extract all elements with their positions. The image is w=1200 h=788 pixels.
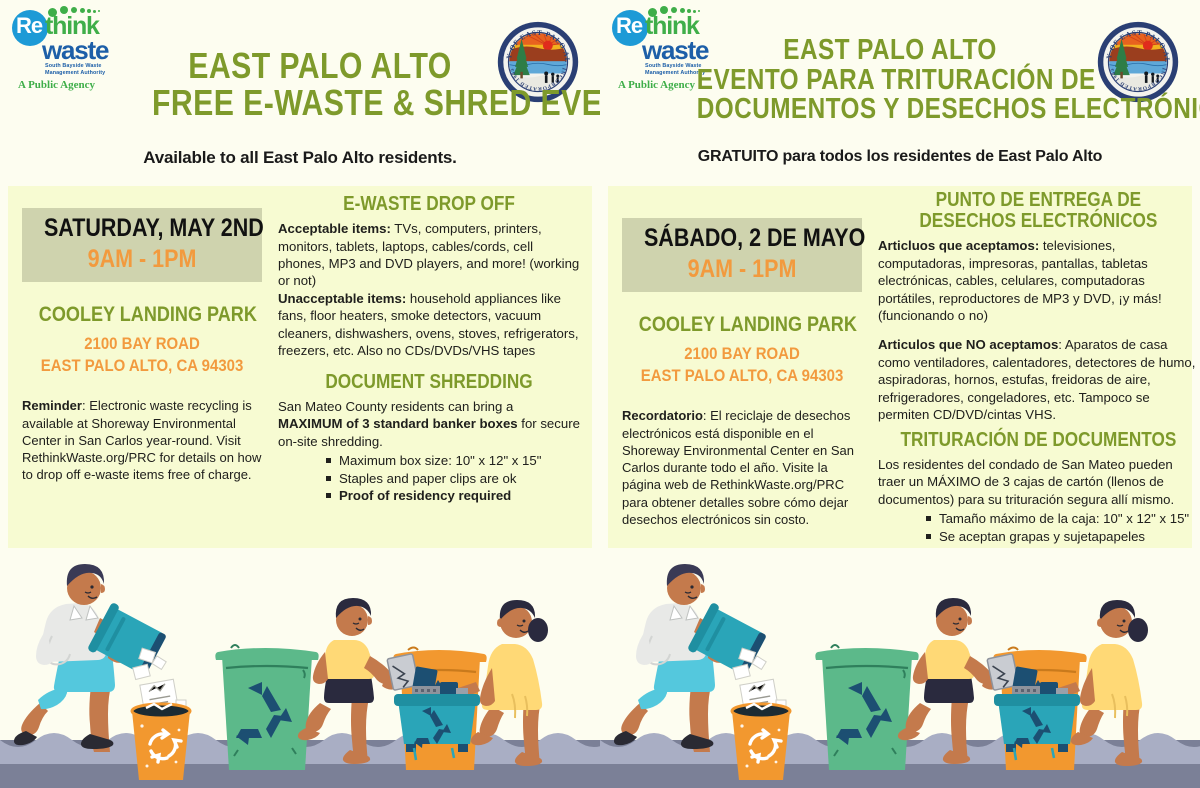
title-line1-es: EAST PALO ALTO [697, 36, 1083, 66]
venue-name-en: COOLEY LANDING PARK [39, 304, 245, 326]
recycling-scene-illustration [600, 548, 1200, 788]
flyer-root: Re think waste South Bayside Waste Manag… [0, 0, 1200, 788]
address-line2-es: EAST PALO ALTO, CA 94303 [636, 365, 847, 387]
shred-intro-es: Los residentes del condado de San Mateo … [878, 456, 1199, 508]
green-recycling-cart [215, 645, 318, 770]
title-line3-es: DOCUMENTOS Y DESECHOS ELECTRÓNICOS [697, 95, 1083, 125]
venue-address-es: 2100 BAY ROAD EAST PALO ALTO, CA 94303 [636, 343, 847, 387]
rethink-waste-logo: Re think waste South Bayside Waste Manag… [12, 6, 130, 96]
acceptable-label-en: Acceptable items: [278, 221, 391, 236]
ewaste-acceptable-es: Articluos que aceptamos: televisiones, c… [878, 237, 1199, 324]
shred-intro-en: San Mateo County residents can bring a M… [278, 398, 580, 450]
column-left-es: SÁBADO, 2 DE MAYO 9AM - 1PM COOLEY LANDI… [608, 186, 876, 598]
unacceptable-label-en: Unacceptable items: [278, 291, 406, 306]
content-en: SATURDAY, MAY 2ND 9AM - 1PM COOLEY LANDI… [8, 186, 592, 586]
shred-heading-es: TRITURACIÓN DE DOCUMENTOS [900, 430, 1176, 451]
shred-bullet-item: Proof of residency required [326, 487, 580, 505]
subtitle-en: Available to all East Palo Alto resident… [60, 148, 540, 168]
orange-paper-bin [132, 704, 190, 780]
event-time-en: 9AM - 1PM [44, 247, 240, 272]
shred-heading-en: DOCUMENT SHREDDING [299, 372, 559, 393]
recycling-scene-illustration [0, 548, 600, 788]
orange-paper-bin [732, 704, 790, 780]
shred-bullet-item: Staples and paper clips are ok [326, 470, 580, 488]
title-block-en: EAST PALO ALTO FREE E-WASTE & SHRED EVEN… [120, 48, 520, 121]
header-english: Re think waste South Bayside Waste Manag… [0, 0, 600, 183]
ewaste-heading-line2-es: DESECHOS ELECTRÓNICOS [900, 211, 1176, 232]
shred-intro-pre-en: San Mateo County residents can bring a [278, 399, 513, 414]
shred-bullet-item: Se aceptan grapas y sujetapapeles [926, 528, 1199, 546]
illustration-es [600, 548, 1200, 788]
logo-agency-text: A Public Agency [18, 79, 95, 91]
address-line1-en: 2100 BAY ROAD [36, 333, 247, 355]
title-line1-en: EAST PALO ALTO [152, 48, 488, 85]
reminder-label-es: Recordatorio [622, 408, 703, 423]
reminder-body-es: : El reciclaje de desechos electrónicos … [622, 408, 854, 527]
green-recycling-cart [815, 645, 918, 770]
ewaste-unacceptable-es: Articulos que NO aceptamos: Aparatos de … [878, 336, 1199, 423]
title-line2-es: EVENTO PARA TRITURACIÓN DE [697, 66, 1083, 96]
reminder-en: Reminder: Electronic waste recycling is … [22, 397, 262, 483]
venue-name-es: COOLEY LANDING PARK [639, 314, 845, 336]
date-box-en: SATURDAY, MAY 2ND 9AM - 1PM [22, 208, 262, 282]
title-block-es: EAST PALO ALTO EVENTO PARA TRITURACIÓN D… [660, 36, 1120, 125]
ewaste-unacceptable-en: Unacceptable items: household appliances… [278, 290, 580, 360]
event-time-es: 9AM - 1PM [644, 257, 840, 282]
shred-bullet-item: Tamaño máximo de la caja: 10" x 12" x 15… [926, 510, 1199, 528]
ewaste-acceptable-en: Acceptable items: TVs, computers, printe… [278, 220, 580, 290]
unacceptable-label-es: Articulos que NO aceptamos [878, 337, 1058, 352]
logo-re-text: Re [616, 15, 642, 37]
header-spanish: Re think waste South Bayside Waste Manag… [600, 0, 1200, 183]
title-line2-en: FREE E-WASTE & SHRED EVENT [152, 85, 488, 122]
date-box-es: SÁBADO, 2 DE MAYO 9AM - 1PM [622, 218, 862, 292]
shred-bullet-item: Maximum box size: 10" x 12" x 15" [326, 452, 580, 470]
column-right-es: PUNTO DE ENTREGA DE DESECHOS ELECTRÓNICO… [876, 186, 1200, 598]
reminder-es: Recordatorio: El reciclaje de desechos e… [622, 407, 862, 528]
logo-re-text: Re [16, 15, 42, 37]
content-es: SÁBADO, 2 DE MAYO 9AM - 1PM COOLEY LANDI… [608, 186, 1192, 598]
event-date-es: SÁBADO, 2 DE MAYO [644, 226, 840, 251]
ewaste-heading-line1-es: PUNTO DE ENTREGA DE [900, 190, 1176, 211]
shred-bullets-en: Maximum box size: 10" x 12" x 15" Staple… [278, 452, 580, 505]
shred-intro-bold-en: MAXIMUM of 3 standard banker boxes [278, 416, 518, 431]
acceptable-label-es: Articluos que aceptamos: [878, 238, 1039, 253]
venue-address-en: 2100 BAY ROAD EAST PALO ALTO, CA 94303 [36, 333, 247, 377]
reminder-label-en: Reminder [22, 398, 82, 413]
address-line2-en: EAST PALO ALTO, CA 94303 [36, 355, 247, 377]
logo-waste-text: waste [42, 37, 108, 63]
event-date-en: SATURDAY, MAY 2ND [44, 216, 240, 241]
address-line1-es: 2100 BAY ROAD [636, 343, 847, 365]
column-left-en: SATURDAY, MAY 2ND 9AM - 1PM COOLEY LANDI… [8, 186, 276, 586]
logo-dots-icon [648, 6, 718, 20]
logo-dots-icon [48, 6, 118, 20]
illustration-en [0, 548, 600, 788]
panel-english: Re think waste South Bayside Waste Manag… [0, 0, 600, 788]
panel-spanish: Re think waste South Bayside Waste Manag… [600, 0, 1200, 788]
subtitle-es: GRATUITO para todos los residentes de Ea… [630, 148, 1170, 166]
column-right-en: E-WASTE DROP OFF Acceptable items: TVs, … [276, 186, 592, 586]
ewaste-heading-en: E-WASTE DROP OFF [299, 194, 559, 215]
